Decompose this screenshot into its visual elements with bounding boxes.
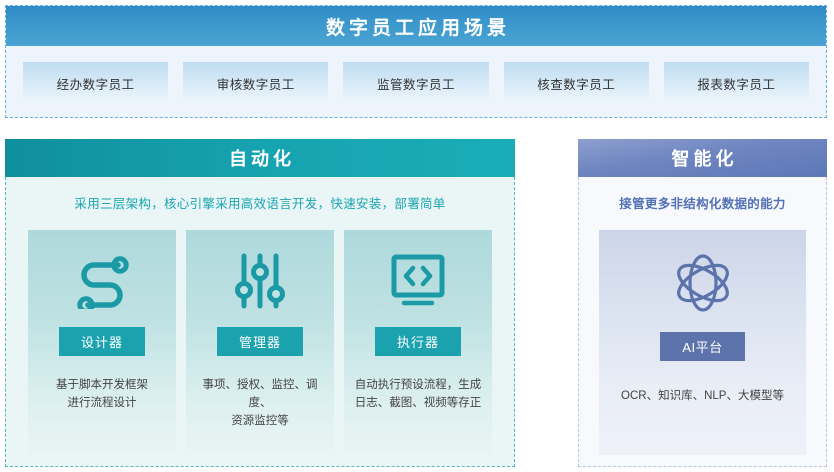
automation-card-badge: 设计器 [59, 327, 145, 356]
automation-card-designer[interactable]: 设计器 基于脚本开发框架 进行流程设计 [28, 230, 176, 455]
scenario-tab-4[interactable]: 报表数字员工 [664, 62, 809, 104]
automation-card-desc: 基于脚本开发框架 进行流程设计 [50, 376, 154, 412]
automation-card-manager[interactable]: 管理器 事项、授权、监控、调度、 资源监控等 [186, 230, 334, 455]
scenario-tab-list: 经办数字员工 审核数字员工 监管数字员工 核查数字员工 报表数字员工 [6, 46, 826, 104]
intelligence-card-desc: OCR、知识库、NLP、大模型等 [621, 387, 784, 405]
scenario-tab-3[interactable]: 核查数字员工 [504, 62, 649, 104]
scenario-tab-label: 报表数字员工 [697, 74, 775, 93]
automation-card-list: 设计器 基于脚本开发框架 进行流程设计 [6, 212, 514, 455]
sliders-manager-icon [233, 250, 287, 312]
automation-card-desc: 事项、授权、监控、调度、 资源监控等 [186, 376, 334, 430]
automation-card-badge: 执行器 [375, 327, 461, 356]
automation-card-desc-line1: 事项、授权、监控、调度、 [192, 376, 328, 412]
atom-ai-icon [672, 252, 734, 314]
intelligence-card-ai[interactable]: AI平台 OCR、知识库、NLP、大模型等 [599, 230, 806, 455]
intelligence-header: 智能化 [578, 139, 827, 177]
scenario-tab-label: 经办数字员工 [57, 74, 135, 93]
code-monitor-icon [387, 250, 449, 312]
automation-body: 采用三层架构，核心引擎采用高效语言开发，快速安装，部署简单 设计器 基于脚本开发… [5, 177, 515, 467]
page-title: 数字员工应用场景 [322, 13, 510, 40]
automation-panel: 自动化 采用三层架构，核心引擎采用高效语言开发，快速安装，部署简单 设计器 基于… [5, 139, 515, 467]
automation-card-executor[interactable]: 执行器 自动执行预设流程，生成 日志、截图、视频等存正 [344, 230, 492, 455]
automation-card-desc-line2: 资源监控等 [192, 412, 328, 430]
automation-card-desc-line1: 基于脚本开发框架 [56, 376, 148, 394]
ai-card-wrap: AI平台 OCR、知识库、NLP、大模型等 [579, 212, 826, 455]
scenario-tab-label: 审核数字员工 [217, 74, 295, 93]
intelligence-title: 智能化 [668, 145, 738, 171]
automation-card-desc: 自动执行预设流程，生成 日志、截图、视频等存正 [349, 376, 488, 412]
automation-header: 自动化 [5, 139, 515, 177]
scenario-header: 数字员工应用场景 [6, 6, 826, 46]
automation-card-desc-line1: 自动执行预设流程，生成 [355, 376, 482, 394]
automation-card-desc-line2: 进行流程设计 [56, 394, 148, 412]
intelligence-body: 接管更多非结构化数据的能力 AI平台 OCR、知识库、NLP、大模型等 [578, 177, 827, 467]
scenario-tab-label: 监管数字员工 [377, 74, 455, 93]
scenario-tab-2[interactable]: 监管数字员工 [343, 62, 488, 104]
scenario-section: 数字员工应用场景 经办数字员工 审核数字员工 监管数字员工 核查数字员工 报表数… [5, 5, 827, 118]
scenario-tab-1[interactable]: 审核数字员工 [183, 62, 328, 104]
automation-title: 自动化 [225, 145, 295, 171]
flow-designer-icon [72, 250, 132, 312]
automation-card-badge: 管理器 [217, 327, 303, 356]
intelligence-panel: 智能化 接管更多非结构化数据的能力 AI平台 OCR、知识库、NLP、大模型等 [578, 139, 827, 467]
intelligence-card-badge: AI平台 [660, 332, 744, 361]
scenario-tab-label: 核查数字员工 [537, 74, 615, 93]
automation-card-desc-line2: 日志、截图、视频等存正 [355, 394, 482, 412]
intelligence-subtitle: 接管更多非结构化数据的能力 [579, 177, 826, 212]
scenario-tab-0[interactable]: 经办数字员工 [23, 62, 168, 104]
automation-subtitle: 采用三层架构，核心引擎采用高效语言开发，快速安装，部署简单 [6, 177, 514, 212]
